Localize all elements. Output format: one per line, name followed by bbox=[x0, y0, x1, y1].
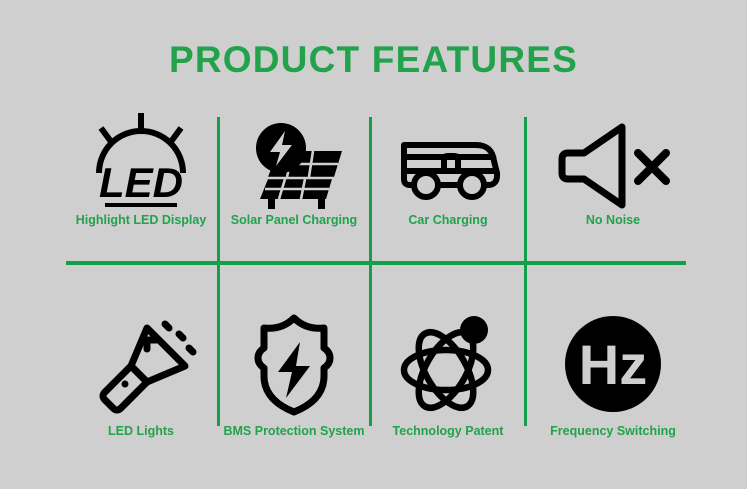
feature-cell-solar-panel-charging: Solar Panel Charging bbox=[218, 110, 370, 228]
product-features-poster: PRODUCT FEATURES LED Highlight LED Displ… bbox=[0, 0, 747, 489]
svg-text:Hz: Hz bbox=[579, 333, 647, 396]
flashlight-icon bbox=[65, 305, 217, 423]
feature-cell-highlight-led-display: LED Highlight LED Display bbox=[65, 110, 217, 228]
feature-cell-technology-patent: Technology Patent bbox=[372, 305, 524, 439]
grid-horizontal-divider bbox=[66, 261, 686, 265]
svg-text:LED: LED bbox=[99, 159, 183, 206]
feature-cell-no-noise: No Noise bbox=[527, 110, 699, 228]
speaker-mute-icon bbox=[527, 110, 699, 212]
shield-bolt-icon bbox=[218, 305, 370, 423]
feature-cell-car-charging: Car Charging bbox=[372, 110, 524, 228]
feature-label: BMS Protection System bbox=[218, 423, 370, 439]
feature-cell-bms-protection-system: BMS Protection System bbox=[218, 305, 370, 439]
feature-label: Frequency Switching bbox=[527, 423, 699, 439]
feature-cell-led-lights: LED Lights bbox=[65, 305, 217, 439]
solar-panel-bolt-icon bbox=[218, 110, 370, 212]
feature-cell-frequency-switching: Hz Frequency Switching bbox=[527, 305, 699, 439]
feature-label: Technology Patent bbox=[372, 423, 524, 439]
led-dome-icon: LED bbox=[65, 110, 217, 212]
atom-icon bbox=[372, 305, 524, 423]
van-icon bbox=[372, 110, 524, 212]
feature-label: Solar Panel Charging bbox=[218, 212, 370, 228]
feature-label: Car Charging bbox=[372, 212, 524, 228]
feature-label: LED Lights bbox=[65, 423, 217, 439]
feature-label: Highlight LED Display bbox=[65, 212, 217, 228]
feature-label: No Noise bbox=[527, 212, 699, 228]
page-title: PRODUCT FEATURES bbox=[0, 38, 747, 82]
hz-circle-icon: Hz bbox=[527, 305, 699, 423]
